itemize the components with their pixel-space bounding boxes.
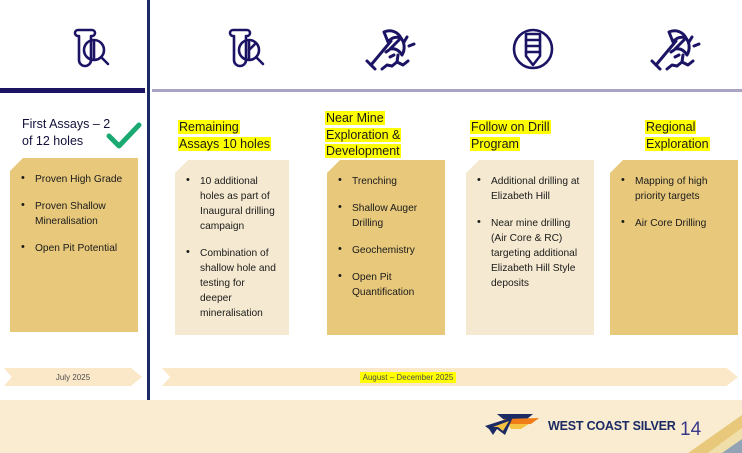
card-notch xyxy=(610,160,623,173)
vertical-divider xyxy=(147,0,150,428)
list-item: Open Pit Quantification xyxy=(335,270,435,300)
list-item: Near mine drilling (Air Core & RC) targe… xyxy=(474,216,584,291)
card-notch xyxy=(175,160,188,173)
column-heading-near-mine: Near Mine Exploration & Development xyxy=(325,110,437,160)
heading-line: Assays 10 holes xyxy=(178,137,271,151)
list-item: 10 additional holes as part of Inaugural… xyxy=(183,174,279,234)
heading-line: Follow on Drill xyxy=(470,120,551,134)
bullet-list: Mapping of high priority targets Air Cor… xyxy=(618,174,728,231)
test-tube-magnifier-icon xyxy=(35,18,145,80)
card-notch xyxy=(466,160,479,173)
list-item: Mapping of high priority targets xyxy=(618,174,728,204)
card-regional-exploration: Mapping of high priority targets Air Cor… xyxy=(610,160,738,335)
icon-row xyxy=(0,0,742,90)
page-number: 14 xyxy=(680,419,701,441)
pickaxe-rock-icon xyxy=(333,18,443,80)
heading-line: Development xyxy=(325,144,401,158)
list-item: Proven Shallow Mineralisation xyxy=(18,199,128,229)
list-item: Additional drilling at Elizabeth Hill xyxy=(474,174,584,204)
brand-logo: WEST COAST SILVER xyxy=(483,413,676,439)
card-remaining-assays: 10 additional holes as part of Inaugural… xyxy=(175,160,289,335)
timeline-chevron-july: July 2025 xyxy=(4,368,142,386)
column-heading-regional-exploration: Regional Exploration xyxy=(645,119,740,152)
west-coast-silver-mark-icon xyxy=(483,413,545,439)
slide-canvas: First Assays – 2 of 12 holes Proven High… xyxy=(0,0,742,453)
bullet-list: Proven High Grade Proven Shallow Mineral… xyxy=(18,172,128,256)
timeline-label-right: August – December 2025 xyxy=(360,372,457,383)
header-rule-left xyxy=(0,88,145,93)
list-item: Air Core Drilling xyxy=(618,216,728,231)
card-notch xyxy=(327,160,340,173)
timeline-label-left: July 2025 xyxy=(56,373,90,382)
card-notch xyxy=(10,158,23,171)
check-icon xyxy=(106,122,142,155)
test-tube-magnifier-icon xyxy=(190,18,300,80)
heading-line: Near Mine xyxy=(325,111,385,125)
heading-line: Exploration & xyxy=(325,128,401,142)
card-near-mine: Trenching Shallow Auger Drilling Geochem… xyxy=(327,160,445,335)
timeline-chevron-aug-dec: August – December 2025 xyxy=(162,368,738,386)
card-first-assays: Proven High Grade Proven Shallow Mineral… xyxy=(10,158,138,332)
drill-bit-circle-icon xyxy=(478,18,588,80)
bullet-list: Additional drilling at Elizabeth Hill Ne… xyxy=(474,174,584,291)
list-item: Open Pit Potential xyxy=(18,241,128,256)
column-heading-follow-on-drill: Follow on Drill Program xyxy=(470,119,585,152)
list-item: Geochemistry xyxy=(335,243,435,258)
heading-line: Regional xyxy=(645,120,696,134)
bullet-list: Trenching Shallow Auger Drilling Geochem… xyxy=(335,174,435,300)
column-heading-remaining-assays: Remaining Assays 10 holes xyxy=(178,119,290,152)
bullet-list: 10 additional holes as part of Inaugural… xyxy=(183,174,279,321)
list-item: Shallow Auger Drilling xyxy=(335,201,435,231)
pickaxe-rock-icon xyxy=(618,18,728,80)
heading-line: Program xyxy=(470,137,520,151)
heading-line: Remaining xyxy=(178,120,240,134)
brand-name: WEST COAST SILVER xyxy=(548,419,676,433)
header-rule-right xyxy=(152,89,742,92)
heading-line: Exploration xyxy=(645,137,710,151)
list-item: Trenching xyxy=(335,174,435,189)
list-item: Combination of shallow hole and testing … xyxy=(183,246,279,321)
card-follow-on-drill: Additional drilling at Elizabeth Hill Ne… xyxy=(466,160,594,335)
list-item: Proven High Grade xyxy=(18,172,128,187)
